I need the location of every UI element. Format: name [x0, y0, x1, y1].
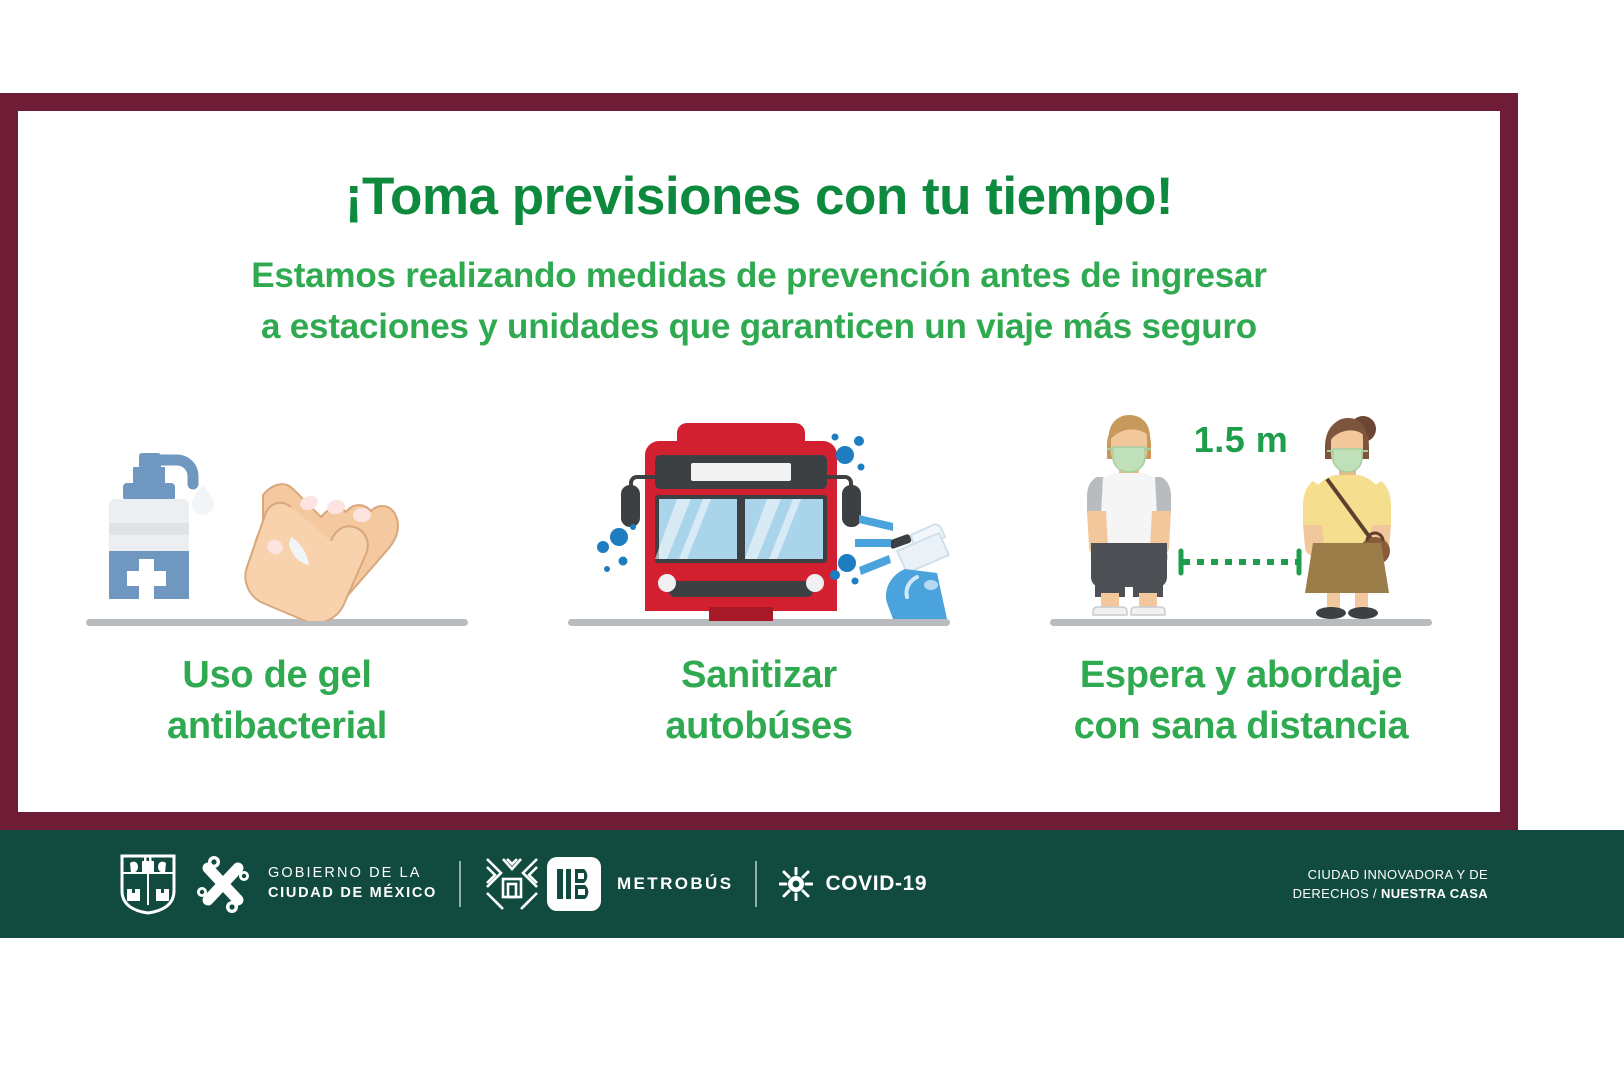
tagline-nuestra-casa: NUESTRA CASA	[1381, 886, 1488, 901]
page-title: ¡Toma previsiones con tu tiempo!	[18, 169, 1500, 225]
measure-caption-sanitizer-gel: Uso de gel antibacterial	[167, 650, 387, 753]
measure-caption-bus-sanitizing: Sanitizar autobúses	[665, 650, 852, 753]
poster-canvas: ¡Toma previsiones con tu tiempo! Estamos…	[0, 0, 1624, 1072]
measure-panel-social-distancing: 1.5 m Espera y abordaje con sana distanc…	[1000, 411, 1482, 753]
cdmx-coat-of-arms-icon	[118, 853, 178, 915]
measures-panel-group: Uso de gel antibacterial	[36, 411, 1482, 753]
metrobus-wordmark: METROBÚS	[617, 874, 733, 894]
distance-label: 1.5 m	[1167, 419, 1315, 461]
gobierno-line-2: CIUDAD DE MÉXICO	[268, 884, 437, 904]
footer-logo-group: GOBIERNO DE LA CIUDAD DE MÉXICO	[118, 830, 927, 938]
tagline-derechos: DERECHOS /	[1293, 886, 1381, 901]
gobierno-line-1: GOBIERNO DE LA	[268, 864, 437, 884]
caption-line-2: autobúses	[665, 701, 852, 752]
cdmx-x-logo-icon	[192, 854, 254, 914]
covid-19-label: COVID-19	[825, 872, 927, 896]
virus-icon	[779, 867, 813, 901]
subtitle-line-1: Estamos realizando medidas de prevención…	[251, 256, 1266, 295]
measure-panel-sanitizer-gel: Uso de gel antibacterial	[36, 411, 518, 753]
poster-content: ¡Toma previsiones con tu tiempo! Estamos…	[18, 111, 1500, 812]
footer-bar: GOBIERNO DE LA CIUDAD DE MÉXICO	[0, 830, 1624, 938]
hand-sanitizer-icon	[77, 411, 477, 621]
caption-line-2: con sana distancia	[1074, 701, 1409, 752]
cdmx-tagline: CIUDAD INNOVADORA Y DE DERECHOS / NUESTR…	[1293, 830, 1488, 938]
footer-divider-2	[755, 861, 757, 907]
page-subtitle: Estamos realizando medidas de prevención…	[18, 251, 1500, 353]
social-distancing-icon: 1.5 m	[1041, 411, 1441, 621]
measure-panel-bus-sanitizing: Sanitizar autobúses	[518, 411, 1000, 753]
tagline-line-1: CIUDAD INNOVADORA Y DE	[1308, 865, 1488, 885]
footer-divider-1	[459, 861, 461, 907]
tagline-line-2: DERECHOS / NUESTRA CASA	[1293, 884, 1488, 904]
caption-line-1: Espera y abordaje	[1080, 654, 1402, 696]
caption-line-2: antibacterial	[167, 701, 387, 752]
metrobus-pattern-icon	[483, 855, 541, 913]
gobierno-cdmx-wordmark: GOBIERNO DE LA CIUDAD DE MÉXICO	[268, 864, 437, 903]
subtitle-line-2: a estaciones y unidades que garanticen u…	[18, 302, 1500, 353]
bus-sanitizing-icon	[559, 411, 959, 621]
caption-line-1: Sanitizar	[681, 654, 837, 696]
metrobus-mb-monogram-icon	[545, 855, 603, 913]
maroon-frame: ¡Toma previsiones con tu tiempo! Estamos…	[0, 93, 1518, 830]
caption-line-1: Uso de gel	[182, 654, 371, 696]
measure-caption-social-distancing: Espera y abordaje con sana distancia	[1074, 650, 1409, 753]
